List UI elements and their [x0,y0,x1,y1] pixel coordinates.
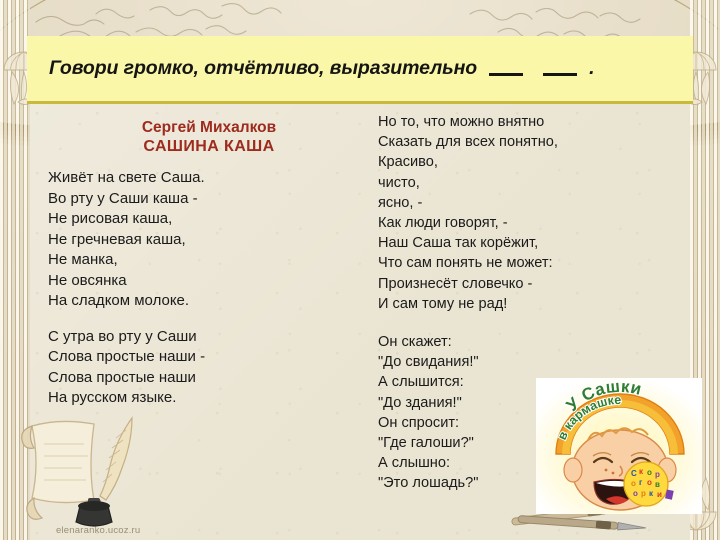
svg-text:р: р [655,470,660,479]
instruction-banner: Говори громко, отчётливо, выразительно . [27,36,693,104]
watermark: elenaranko.ucoz.ru [56,525,140,536]
poem-heading: Сергей Михалков САШИНА КАША [48,118,378,156]
poem-line: Слова простые наши [48,368,378,389]
poem-line: чисто, [378,173,688,193]
poem-line: "До свидания!" [378,352,688,372]
svg-text:и: и [657,490,662,499]
poem-line: Красиво, [378,152,688,172]
instruction-text: Говори громко, отчётливо, выразительно . [27,57,594,80]
svg-text:о: о [631,479,636,488]
poem-line: Что сам понять не может: [378,253,688,273]
poem-stanza: С утра во рту у Саши Слова простые наши … [48,327,378,409]
poem-line: Не гречневая каша, [48,230,378,251]
svg-text:о: о [647,478,652,487]
poem-stanza: Но то, что можно внятно Сказать для всех… [378,112,688,314]
poem-line: Не рисовая каша, [48,209,378,230]
poem-line: Слова простые наши - [48,347,378,368]
poem-line: ясно, - [378,193,688,213]
poem-line: Во рту у Саши каша - [48,189,378,210]
poem-line: И сам тому не рад! [378,294,688,314]
poem-stanza: Живёт на свете Саша. Во рту у Саши каша … [48,168,378,312]
laughing-boy-cartoon: С к о р о г о в о р к и У Сашки [536,378,702,514]
poem-line: Но то, что можно внятно [378,112,688,132]
poem-line: На сладком молоке. [48,291,378,312]
poem-author: Сергей Михалков [142,119,276,136]
poem-line: Живёт на свете Саша. [48,168,378,189]
poem-line: На русском языке. [48,388,378,409]
poem-line: Наш Саша так корёжит, [378,233,688,253]
svg-text:о: о [633,489,638,498]
svg-text:в: в [655,480,660,489]
blank-line-1 [489,73,523,76]
presentation-slide: Сергей Михалков САШИНА КАША Живёт на све… [0,0,720,540]
cartoon-canvas: С к о р о г о в о р к и У Сашки [536,378,702,514]
instruction-period: . [589,57,594,79]
svg-text:р: р [641,489,646,498]
svg-text:С: С [631,469,637,478]
blank-line-2 [543,73,577,76]
svg-text:о: о [647,468,652,477]
poem-title: САШИНА КАША [48,137,370,156]
poem-line: Произнесёт словечко - [378,274,688,294]
poem-line: Как люди говорят, - [378,213,688,233]
instruction-text-main: Говори громко, отчётливо, выразительно [49,57,477,79]
poem-line: Он скажет: [378,332,688,352]
poem-line: Не манка, [48,250,378,271]
poem-left-column: Сергей Михалков САШИНА КАША Живёт на све… [48,118,378,409]
poem-line: С утра во рту у Саши [48,327,378,348]
poem-line: Не овсянка [48,271,378,292]
poem-line: Сказать для всех понятно, [378,132,688,152]
